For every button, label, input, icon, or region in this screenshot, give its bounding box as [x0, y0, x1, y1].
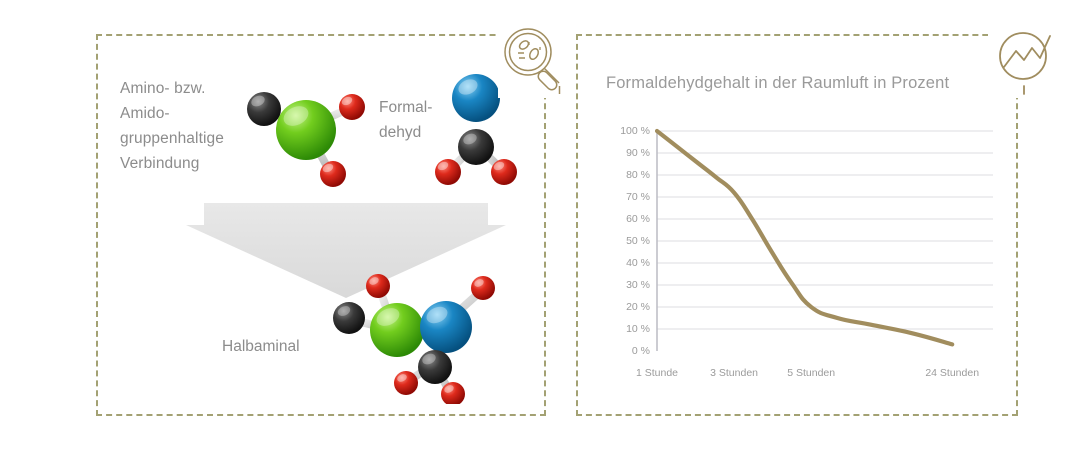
x-tick-label: 5 Stunden — [787, 367, 835, 379]
chart-area: 0 %10 %20 %30 %40 %50 %60 %70 %80 %90 %1… — [596, 118, 996, 380]
x-axis-ticks: 1 Stunde3 Stunden5 Stunden24 Stunden — [596, 118, 996, 380]
chart-title: Formaldehydgehalt in der Raumluft in Pro… — [606, 74, 949, 93]
x-tick-label: 3 Stunden — [710, 367, 758, 379]
x-tick-label: 1 Stunde — [636, 367, 678, 379]
x-tick-label: 24 Stunden — [925, 367, 979, 379]
amino-compound-molecule — [238, 78, 374, 190]
product-label: Halbaminal — [222, 338, 300, 356]
diagram-canvas: Amino- bzw. Amido- gruppenhaltige Verbin… — [0, 0, 1080, 462]
halbaminal-molecule — [322, 268, 508, 404]
trend-chart-circle-icon — [988, 22, 1064, 98]
magnifier-germs-icon — [498, 22, 574, 98]
